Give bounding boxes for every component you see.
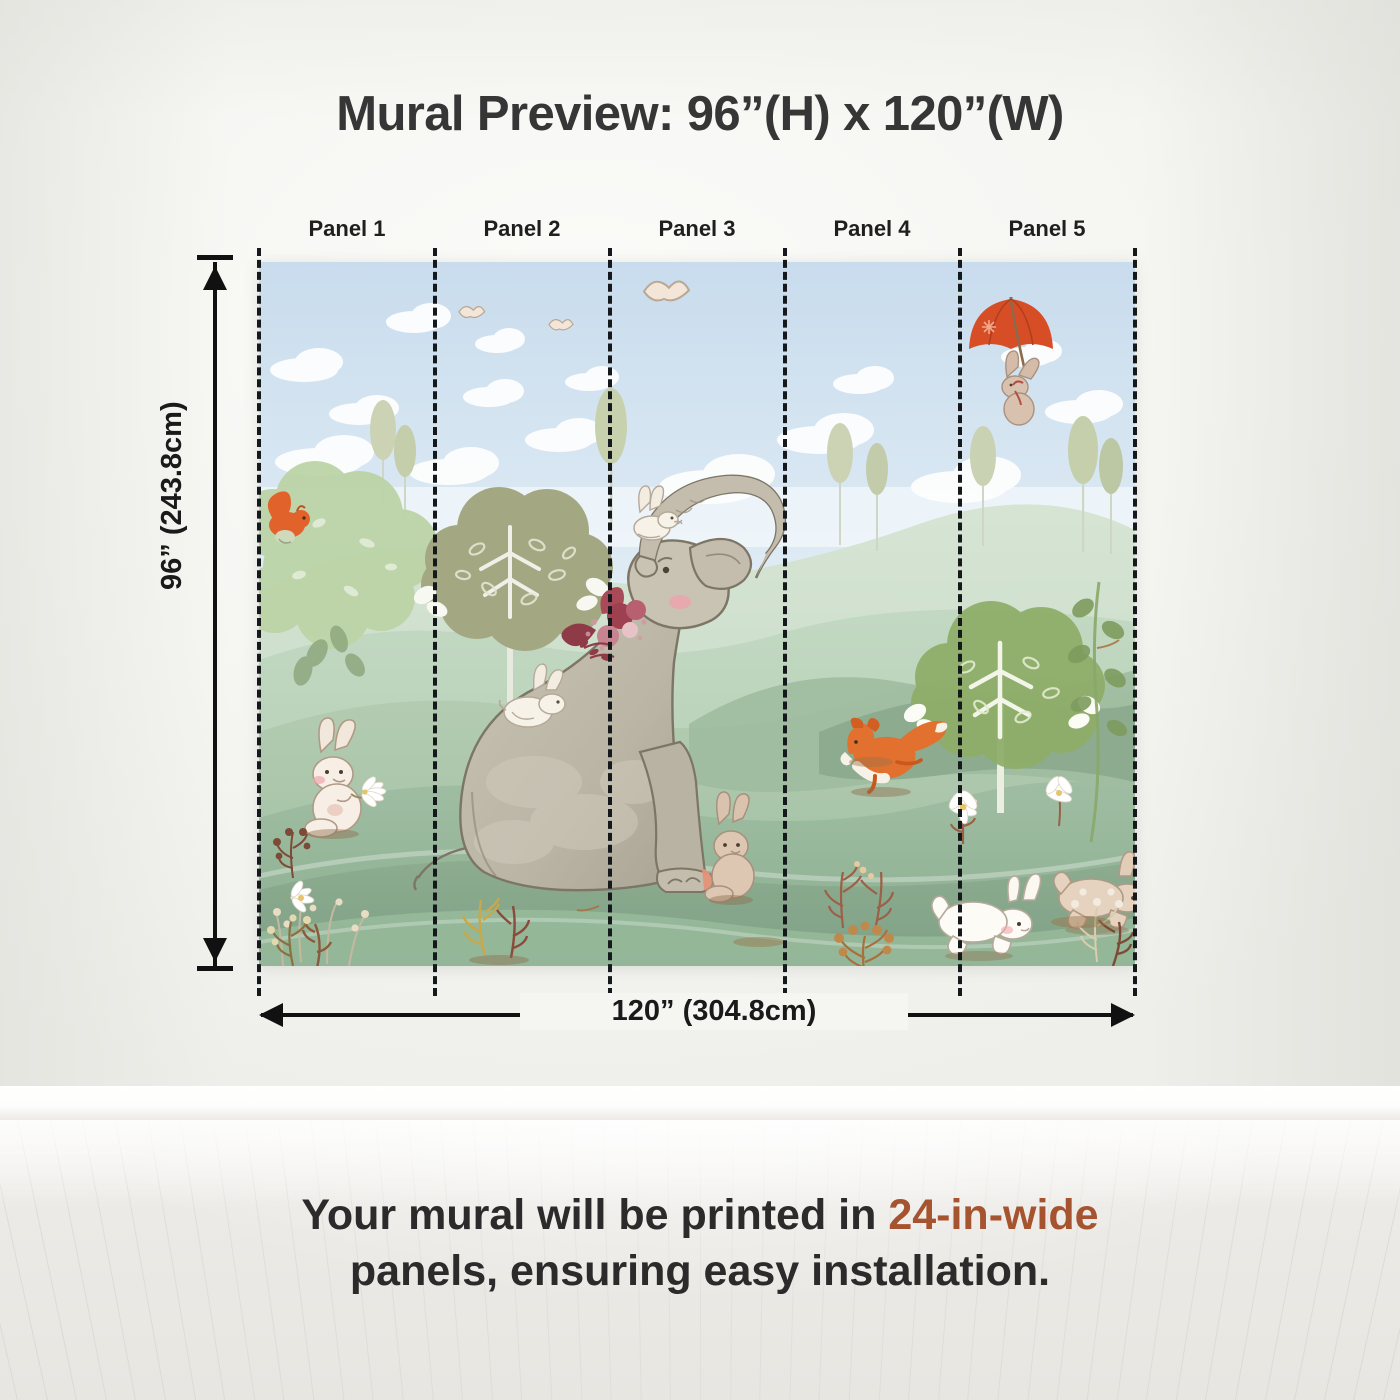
panel-label-5: Panel 5: [957, 216, 1137, 242]
width-arrow-right-icon: [1111, 1003, 1135, 1027]
height-arrow-up-icon: [203, 266, 227, 290]
height-dimension-label: 96” (243.8cm): [156, 250, 189, 590]
wall-right-shading: [1140, 0, 1400, 1118]
height-dimension-cap-bottom: [197, 966, 233, 971]
caption-accent-panel-width: 24-in-wide: [888, 1191, 1098, 1239]
panel-divider-2-3: [608, 248, 612, 996]
mural-artwork-container: [259, 262, 1135, 966]
panel-divider-1-2: [433, 248, 437, 996]
height-dimension-cap-top: [197, 255, 233, 260]
caption-line1-pre: Your mural will be printed in: [301, 1191, 888, 1239]
panel-label-2: Panel 2: [432, 216, 612, 242]
installation-caption: Your mural will be printed in 24-in-wide…: [0, 1188, 1400, 1300]
panel-divider-3-4: [783, 248, 787, 996]
width-dimension-label: 120” (304.8cm): [520, 993, 908, 1030]
height-dimension-line: [213, 262, 217, 966]
panel-label-4: Panel 4: [782, 216, 962, 242]
panel-divider-4-5: [958, 248, 962, 996]
page-title: Mural Preview: 96”(H) x 120”(W): [0, 86, 1400, 142]
baseboard: [0, 1086, 1400, 1121]
caption-line2: panels, ensuring easy installation.: [0, 1244, 1400, 1300]
height-arrow-down-icon: [203, 938, 227, 962]
panel-divider-left-edge: [257, 248, 261, 996]
panel-label-3: Panel 3: [607, 216, 787, 242]
panel-divider-right-edge: [1133, 248, 1137, 996]
panel-label-1: Panel 1: [257, 216, 437, 242]
mural-artwork: [259, 262, 1135, 966]
mural-preview-screenshot: Mural Preview: 96”(H) x 120”(W): [0, 0, 1400, 1400]
wall-left-shading: [0, 0, 230, 1118]
width-arrow-left-icon: [259, 1003, 283, 1027]
